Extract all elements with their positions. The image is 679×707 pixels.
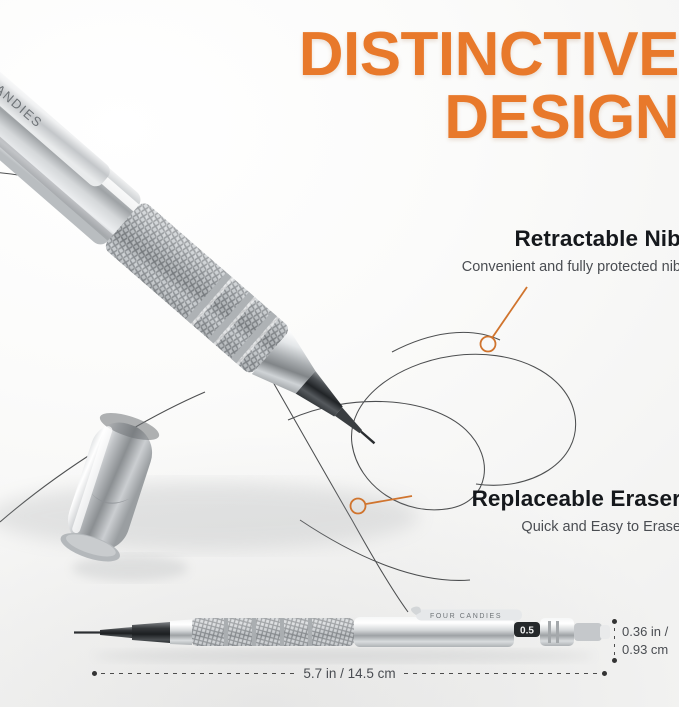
headline-line-1: DISTINCTIVE — [299, 26, 679, 85]
dimension-line-vertical — [614, 620, 615, 662]
feature-title: Replaceable Eraser — [472, 486, 679, 512]
dimension-line-left — [92, 673, 295, 674]
feature-title: Retractable Nib — [462, 226, 679, 252]
dimension-length: 5.7 in / 14.5 cm — [92, 665, 607, 681]
dimension-width: 0.36 in / 0.93 cm — [612, 620, 668, 662]
svg-text:0.5: 0.5 — [520, 626, 534, 637]
dimension-width-label: 0.36 in / 0.93 cm — [622, 623, 668, 658]
feature-retractable-nib: Retractable Nib Convenient and fully pro… — [462, 226, 679, 275]
eraser-cap-photo — [44, 408, 204, 588]
dimension-length-label: 5.7 in / 14.5 cm — [303, 666, 395, 681]
brand-engraving-side: FOUR CANDIES — [430, 613, 502, 620]
product-feature-image: FOUR CANDIES — [0, 0, 679, 707]
dimension-width-line-1: 0.36 in / — [622, 624, 668, 639]
headline-line-2: DESIGN — [299, 89, 679, 148]
feature-subtitle: Convenient and fully protected nib — [462, 259, 679, 275]
feature-subtitle: Quick and Easy to Erase — [472, 519, 679, 535]
page-title: DISTINCTIVE DESIGN — [299, 26, 679, 148]
lead-size-badge-side: 0.5 — [514, 622, 540, 637]
dimension-width-line-2: 0.93 cm — [622, 642, 668, 657]
dimension-line-right — [404, 673, 607, 674]
feature-replaceable-eraser: Replaceable Eraser Quick and Easy to Era… — [472, 486, 679, 535]
pencil-side-view-photo: FOUR CANDIES 0.5 — [74, 598, 614, 664]
